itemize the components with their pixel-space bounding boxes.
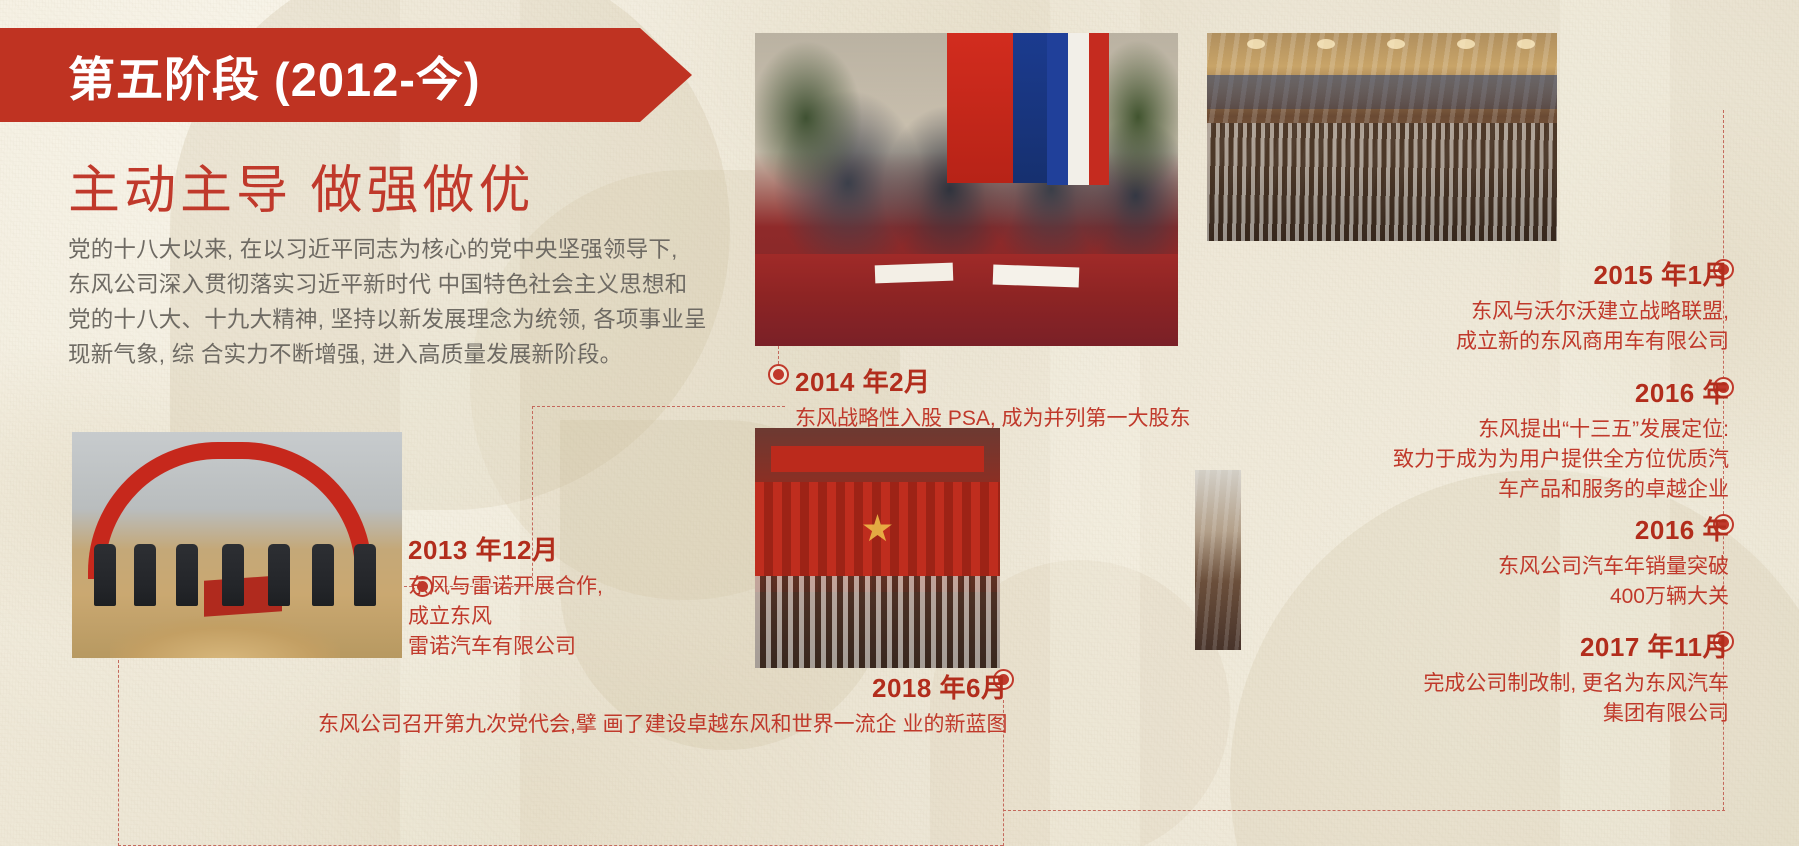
timeline-marker-2014[interactable] (768, 364, 789, 385)
event-description: 东风公司召开第九次党代会,擘 画了建设卓越东风和世界一流企 业的新蓝图 (318, 710, 1008, 740)
event-description: 车产品和服务的卓越企业 (1393, 475, 1729, 505)
groundbreaking-ceremony-photo (72, 432, 402, 658)
event-date: 2014 年2月 (795, 362, 1191, 399)
connector-2013-top (532, 406, 785, 407)
intro-line: 现新气象, 综 合实力不断增强, 进入高质量发展新阶段。 (68, 337, 728, 372)
event-description: 东风战略性入股 PSA, 成为并列第一大股东 (795, 404, 1191, 434)
event-date: 2015 年1月 (1456, 255, 1729, 292)
event-date: 2018 年6月 (318, 668, 1008, 705)
small-hall-photo (1195, 470, 1241, 650)
conference-hall-photo (1207, 33, 1557, 241)
intro-line: 东风公司深入贯彻落实习近平新时代 中国特色社会主义思想和 (68, 267, 728, 302)
event-description: 集团有限公司 (1423, 699, 1729, 729)
stage-banner: 第五阶段 (2012-今) (0, 28, 640, 122)
connector-2018-left-rail (118, 660, 119, 846)
timeline-event-2018[interactable]: 2018 年6月 东风公司召开第九次党代会,擘 画了建设卓越东风和世界一流企 业… (318, 668, 1008, 740)
event-description: 致力于成为为用户提供全方位优质汽 (1393, 445, 1729, 475)
event-description: 东风公司汽车年销量突破 (1498, 552, 1729, 582)
event-description: 东风与雷诺开展合作, (408, 572, 603, 602)
intro-line: 党的十八大以来, 在以习近平同志为核心的党中央坚强领导下, (68, 232, 728, 267)
event-description: 东风与沃尔沃建立战略联盟, (1456, 297, 1729, 327)
party-congress-photo (755, 428, 1000, 668)
timeline-event-2017[interactable]: 2017 年11月 完成公司制改制, 更名为东风汽车 集团有限公司 (1423, 627, 1729, 729)
page-headline: 主动主导 做强做优 (68, 148, 534, 223)
intro-line: 党的十八大、十九大精神, 坚持以新发展理念为统领, 各项事业呈 (68, 302, 728, 337)
connector-2014-stem (778, 346, 779, 364)
timeline-event-2016-sales[interactable]: 2016 年 东风公司汽车年销量突破 400万辆大关 (1498, 510, 1729, 612)
event-date: 2016 年 (1498, 510, 1729, 547)
signing-ceremony-photo (755, 33, 1178, 346)
timeline-event-2015[interactable]: 2015 年1月 东风与沃尔沃建立战略联盟, 成立新的东风商用车有限公司 (1456, 255, 1729, 357)
intro-paragraph: 党的十八大以来, 在以习近平同志为核心的党中央坚强领导下, 东风公司深入贯彻落实… (68, 232, 728, 372)
event-description: 成立东风 (408, 602, 603, 632)
event-description: 东风提出“十三五”发展定位: (1393, 415, 1729, 445)
event-description: 完成公司制改制, 更名为东风汽车 (1423, 669, 1729, 699)
event-description: 400万辆大关 (1498, 582, 1729, 612)
timeline-event-2016-plan[interactable]: 2016 年 东风提出“十三五”发展定位: 致力于成为为用户提供全方位优质汽 车… (1393, 373, 1729, 505)
event-description: 雷诺汽车有限公司 (408, 632, 603, 662)
event-date: 2016 年 (1393, 373, 1729, 410)
timeline-event-2013[interactable]: 2013 年12月 东风与雷诺开展合作, 成立东风 雷诺汽车有限公司 (408, 530, 603, 662)
timeline-event-2014[interactable]: 2014 年2月 东风战略性入股 PSA, 成为并列第一大股东 (795, 362, 1191, 434)
stage-banner-title: 第五阶段 (2012-今) (0, 41, 481, 110)
infographic-canvas: 第五阶段 (2012-今) 主动主导 做强做优 党的十八大以来, 在以习近平同志… (0, 0, 1799, 846)
event-date: 2013 年12月 (408, 530, 603, 567)
event-date: 2017 年11月 (1423, 627, 1729, 664)
event-description: 成立新的东风商用车有限公司 (1456, 327, 1729, 357)
connector-right-bottom (1003, 810, 1725, 811)
